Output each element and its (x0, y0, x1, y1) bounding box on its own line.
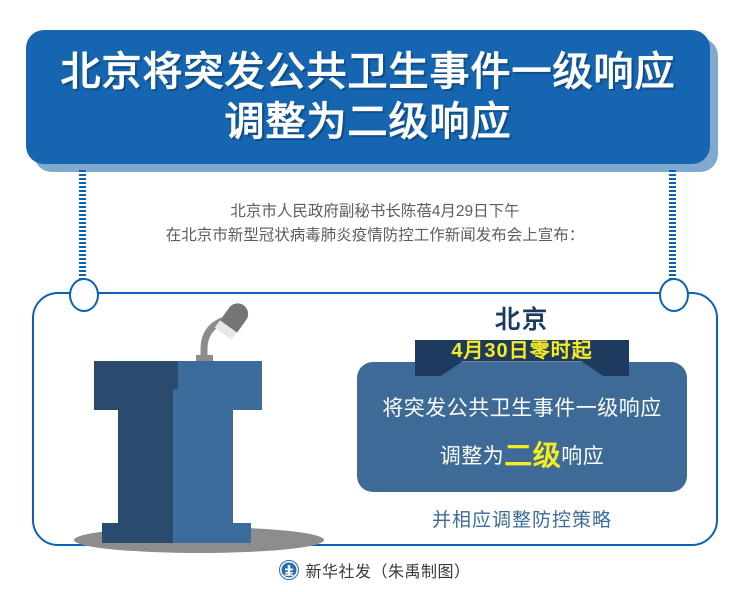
effective-date-ribbon: 4月30日零时起 (415, 340, 629, 376)
card-line-2-suffix: 响应 (561, 444, 604, 468)
card-line-1: 将突发公共卫生事件一级响应 (367, 392, 677, 422)
card-line-2-prefix: 调整为 (440, 444, 505, 468)
subtitle-line-2: 在北京市新型冠状病毒肺炎疫情防控工作新闻发布会上宣布： (0, 224, 750, 248)
podium-column-right (173, 389, 233, 537)
subtitle-block: 北京市人民政府副秘书长陈蓓4月29日下午 在北京市新型冠状病毒肺炎疫情防控工作新… (0, 200, 750, 248)
card-line-2: 调整为二级响应 (367, 434, 677, 474)
connector-node-right (659, 278, 689, 312)
podium-base-right (173, 523, 251, 543)
connector-line-right (669, 170, 676, 290)
effective-date-text: 4月30日零时起 (451, 340, 592, 363)
response-level-card: 将突发公共卫生事件一级响应 调整为二级响应 (357, 362, 687, 492)
announcement-block: 北京 4月30日零时起 将突发公共卫生事件一级响应 调整为二级响应 并相应调整防… (352, 300, 692, 532)
title-line-1: 北京将突发公共卫生事件一级响应 (61, 47, 676, 97)
card-line-2-highlight: 二级 (504, 441, 561, 472)
connector-line-left (79, 170, 86, 290)
connector-node-left (69, 278, 99, 312)
credit-text: 新华社发（朱禹制图） (305, 558, 470, 582)
subtitle-line-1: 北京市人民政府副秘书长陈蓓4月29日下午 (0, 200, 750, 224)
footer-credit: 新华社发（朱禹制图） (0, 558, 750, 582)
policy-note: 并相应调整防控策略 (352, 505, 692, 532)
ribbon-holder: 4月30日零时起 (352, 340, 692, 376)
title-line-2: 调整为二级响应 (225, 97, 512, 147)
infographic-root: 北京将突发公共卫生事件一级响应 调整为二级响应 北京市人民政府副秘书长陈蓓4月2… (0, 0, 750, 592)
city-label: 北京 (352, 300, 692, 336)
title-banner: 北京将突发公共卫生事件一级响应 调整为二级响应 (26, 30, 710, 164)
podium-column-left (118, 389, 173, 537)
xinhua-logo-icon (279, 560, 299, 580)
podium-illustration (60, 295, 340, 560)
podium-base-left (102, 523, 173, 543)
